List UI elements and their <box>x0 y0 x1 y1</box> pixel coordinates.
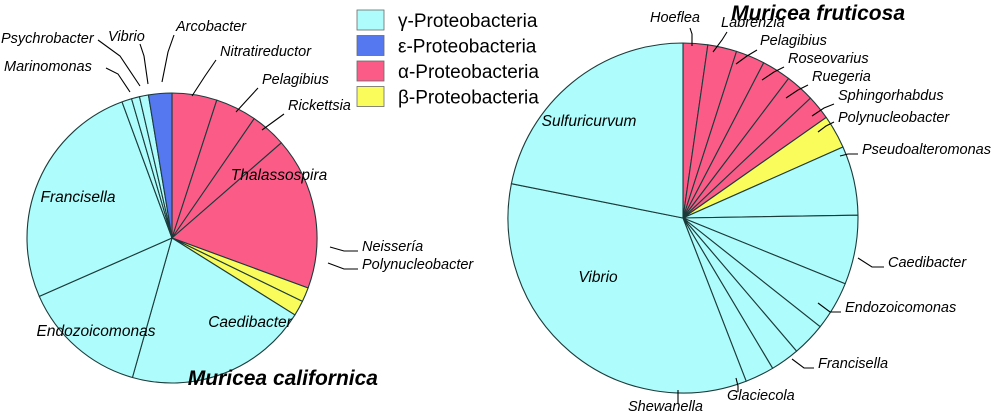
slice-label-polynucleobacter: Polynucleobacter <box>838 110 950 126</box>
slice-label-pelagibius: Pelagibius <box>262 72 329 88</box>
slice-label-nitratireductor: Nitratireductor <box>220 44 312 60</box>
slice-label-pelagibius: Pelagibius <box>760 33 827 49</box>
slice-label-pseudoalteromonas: Pseudoalteromonas <box>862 142 991 158</box>
slice-label-roseovarius: Roseovarius <box>788 51 869 67</box>
slice-label-glaciecola: Glaciecola <box>727 388 795 404</box>
slice-label-marinomonas: Marinomonas <box>4 59 92 75</box>
slice-label-caedibacter: Caedibacter <box>888 255 967 271</box>
legend: γ-Proteobacteriaε-Proteobacteriaα-Proteo… <box>357 10 539 109</box>
slice-label-endozoicomonas: Endozoicomonas <box>37 323 156 340</box>
slice-label-shewanella: Shewanella <box>628 399 703 415</box>
slice-label-psychrobacter: Psychrobacter <box>1 31 95 47</box>
slice-label-caedibacter: Caedibacter <box>208 314 292 331</box>
slice-label-sphingorhabdus: Sphingorhabdus <box>838 88 944 104</box>
legend-label-gamma: γ-Proteobacteria <box>398 11 538 32</box>
leader-line-vibrio <box>140 44 148 84</box>
leader-line-arcobacter <box>162 35 174 82</box>
chart-title-muricea-fruticosa: Muricea fruticosa <box>731 2 905 25</box>
legend-swatch-epsilon <box>357 36 384 56</box>
slice-label-hoeflea: Hoeflea <box>650 10 700 26</box>
pie-wedges <box>508 43 858 393</box>
proteobacteria-pie-figure: NitratireductorPelagibiusRickettsiaThala… <box>0 0 1000 418</box>
legend-swatch-alpha <box>357 61 384 81</box>
leader-line-neisser-a <box>330 247 358 251</box>
legend-swatch-beta <box>357 87 384 107</box>
leader-line-francisella <box>792 359 814 368</box>
slice-label-sulfuricurvum: Sulfuricurvum <box>542 113 637 130</box>
leader-line-psychrobacter <box>98 40 140 86</box>
slice-label-ruegeria: Ruegeria <box>812 69 871 85</box>
leader-line-pelagibius <box>236 88 258 112</box>
slice-label-arcobacter: Arcobacter <box>175 19 247 35</box>
slice-label-francisella: Francisella <box>818 356 888 372</box>
slice-label-thalassospira: Thalassospira <box>231 167 328 184</box>
slice-label-endozoicomonas: Endozoicomonas <box>845 300 956 316</box>
leader-line-caedibacter <box>858 258 884 267</box>
legend-label-alpha: α-Proteobacteria <box>398 62 539 83</box>
slice-label-neisser-a: Neissería <box>362 239 423 255</box>
slice-label-francisella: Francisella <box>41 189 116 206</box>
slice-label-rickettsia: Rickettsia <box>288 98 351 114</box>
chart-title-muricea-californica: Muricea californica <box>188 367 379 390</box>
legend-label-beta: β-Proteobacteria <box>398 88 539 109</box>
slice-label-vibrio: Vibrio <box>108 29 145 45</box>
leader-line-rickettsia <box>262 114 284 130</box>
legend-label-epsilon: ε-Proteobacteria <box>398 37 537 58</box>
legend-swatch-gamma <box>357 10 384 30</box>
pie-chart-muricea-fruticosa: HoefleaLabrenziaPelagibiusRoseovariusRue… <box>508 2 991 415</box>
leader-line-marinomonas <box>106 68 130 92</box>
leader-line-nitratireductor <box>192 60 216 96</box>
slice-label-vibrio: Vibrio <box>578 269 618 286</box>
leader-line-polynucleobacter <box>328 263 358 269</box>
slice-label-polynucleobacter: Polynucleobacter <box>362 257 474 273</box>
